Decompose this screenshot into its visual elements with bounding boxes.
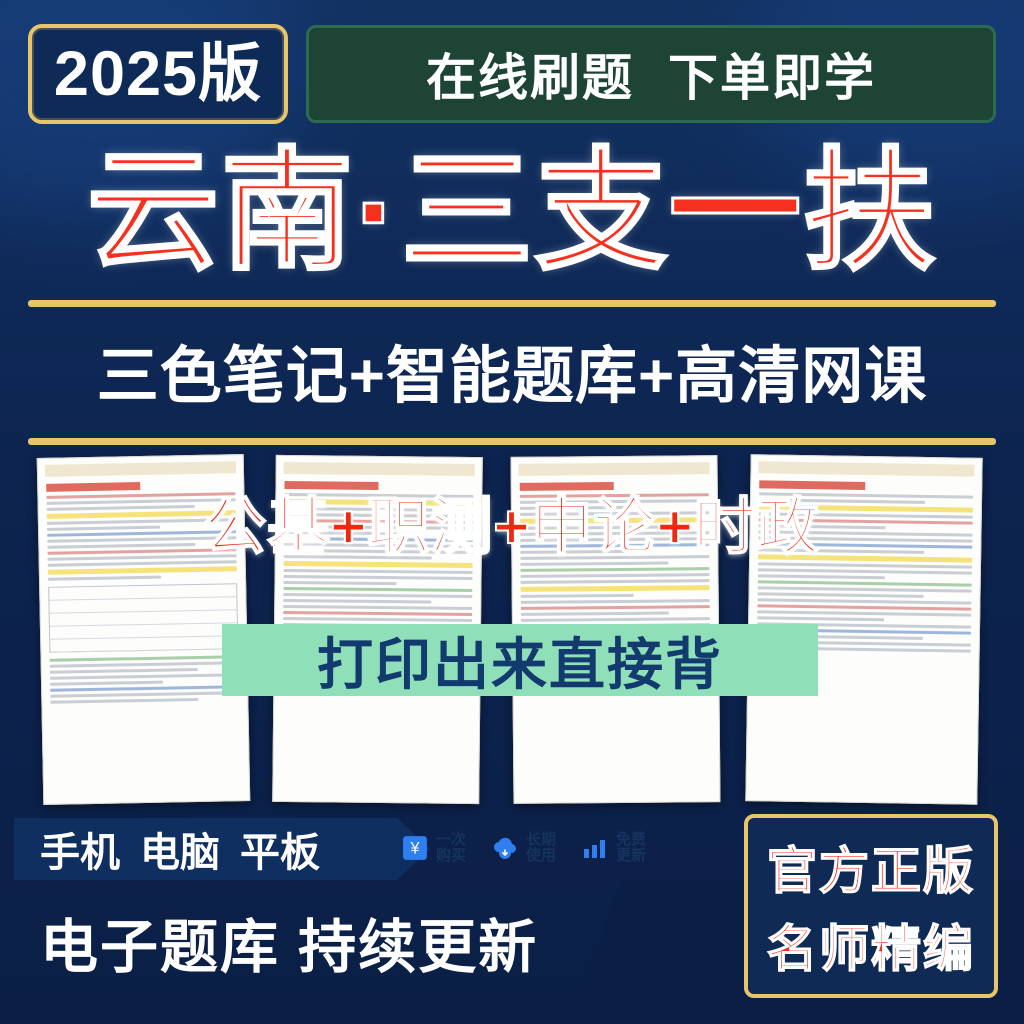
year-badge: 2025版 xyxy=(28,24,288,124)
poster-root: 2025版 在线刷题 下单即学 云南·三支一扶 三色笔记+智能题库+高清网课 xyxy=(0,0,1024,1024)
feature-item: ¥ 一次 购买 xyxy=(400,832,466,864)
photo-overlay-green-highlight: 打印出来直接背 xyxy=(222,624,818,696)
bottom-tagline: 电子题库 持续更新 xyxy=(18,894,690,990)
feature-item: 长期 使用 xyxy=(490,832,556,864)
divider-top xyxy=(28,300,996,307)
device-label-phone: 手机 xyxy=(40,820,120,878)
feature-line-2: 使用 xyxy=(526,848,556,864)
cloud-download-icon xyxy=(490,833,520,863)
device-label-tablet: 平板 xyxy=(240,820,320,878)
authenticity-stamp: 官方正版 名师精编 xyxy=(744,814,998,998)
feature-line-2: 更新 xyxy=(616,848,646,864)
stamp-line-1: 官方正版 xyxy=(767,831,975,903)
promo-text-2: 下单即学 xyxy=(668,38,876,110)
feature-line-1: 免费 xyxy=(616,832,646,848)
subtitle-band: 三色笔记+智能题库+高清网课 xyxy=(28,318,996,422)
svg-text:¥: ¥ xyxy=(409,839,420,857)
feature-line-1: 长期 xyxy=(526,832,556,848)
chart-up-icon xyxy=(580,833,610,863)
feature-line-2: 购买 xyxy=(436,848,466,864)
divider-bottom xyxy=(28,438,996,445)
photo-overlay-red-text: 公基+职测+申论+时政 xyxy=(34,476,990,566)
photo-overlay-green-text: 打印出来直接背 xyxy=(317,620,723,701)
main-title: 云南·三支一扶 xyxy=(87,146,937,278)
main-title-wrap: 云南·三支一扶 xyxy=(28,132,996,292)
notes-photo-group: 公基+职测+申论+时政 打印出来直接背 xyxy=(34,456,990,806)
stamp-line-2: 名师精编 xyxy=(767,909,975,981)
devices-bar: 手机 电脑 平板 xyxy=(14,818,430,880)
header-row: 2025版 在线刷题 下单即学 xyxy=(28,26,996,122)
feature-line-1: 一次 xyxy=(436,832,466,848)
subtitle-text: 三色笔记+智能题库+高清网课 xyxy=(97,325,927,415)
promo-text-1: 在线刷题 xyxy=(426,38,634,110)
device-label-computer: 电脑 xyxy=(140,820,220,878)
year-badge-label: 2025版 xyxy=(54,43,262,106)
bottom-tagline-text: 电子题库 持续更新 xyxy=(40,900,538,984)
feature-list: ¥ 一次 购买 长期 使用 免费 更新 xyxy=(400,812,700,884)
feature-item: 免费 更新 xyxy=(580,832,646,864)
yen-icon: ¥ xyxy=(400,833,430,863)
promo-green-bar: 在线刷题 下单即学 xyxy=(306,25,996,123)
